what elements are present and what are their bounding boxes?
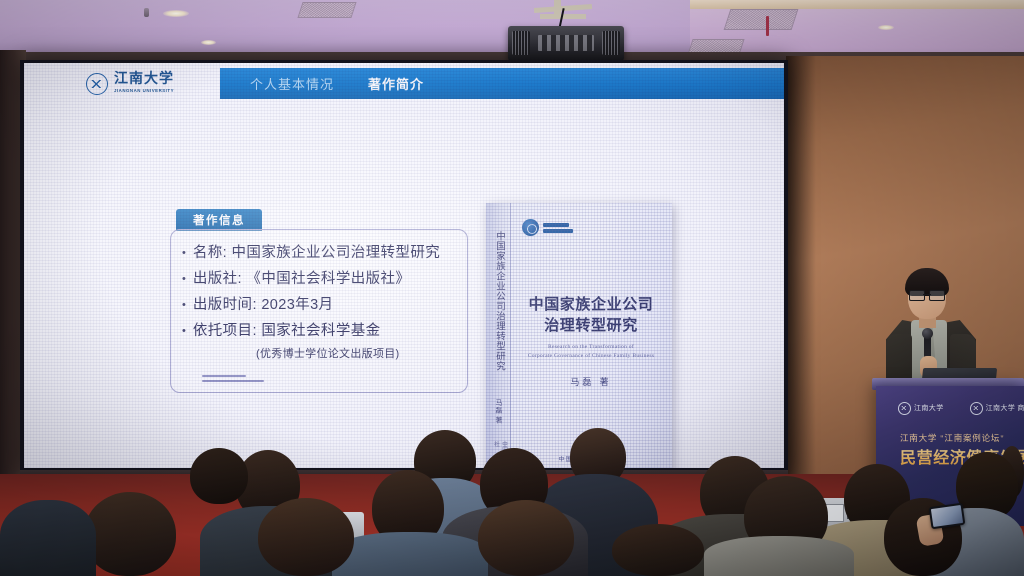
card-decoration-lines [202,375,264,385]
series-emblem-icon [522,219,539,236]
book-name-value: 名称: 中国家族企业公司治理转型研究 [193,245,440,262]
podium-logo-left-label: 江南大学 [914,403,944,413]
audience-phone-recording [929,503,966,530]
book-subtitle: Research on the Transformation of Corpor… [514,343,668,361]
info-card-bullet-list: • 名称: 中国家族企业公司治理转型研究 • 出版社: 《中国社会科学出版社》 … [182,245,462,369]
book-spine: 中国家族企业公司治理转型研究 马磊 著 中国社会科学出版社 [486,203,511,468]
list-item: • 出版社: 《中国社会科学出版社》 [182,271,462,288]
glasses-icon [909,290,945,299]
audience-shoulders [332,532,488,576]
ceiling-cove-light [690,0,1024,9]
series-badge-text [543,223,573,233]
publish-date-value: 出版时间: 2023年3月 [193,297,334,314]
podium-logo-right-label: 江南大学 商学院 [986,403,1024,413]
bullet-icon: • [182,323,186,340]
podium-logo-business-school: 江南大学 商学院 [970,402,1024,415]
microphone-head-icon [922,328,933,339]
info-card-tab: 著作信息 [176,209,262,231]
book-title-line2: 治理转型研究 [510,316,672,337]
university-name-en: JIANGNAN UNIVERSITY [114,89,174,93]
ceiling-downlight [163,10,189,17]
publisher-value: 出版社: 《中国社会科学出版社》 [193,271,410,288]
jiangnan-university-emblem-icon [970,402,983,415]
audience-head [84,492,176,576]
book-subtitle-line1: Research on the Transformation of [514,343,668,352]
audience-head [478,500,574,576]
info-card-tab-label: 著作信息 [193,212,245,228]
book-spine-title: 中国家族企业公司治理转型研究 [492,231,505,371]
list-item: • 出版时间: 2023年3月 [182,297,462,314]
jiangnan-university-emblem-icon [86,73,108,95]
tab-personal-info[interactable]: 个人基本情况 [250,74,334,93]
slide-nav-bar: 个人基本情况 著作简介 [220,68,784,99]
bullet-icon: • [182,297,186,314]
bullet-icon: • [182,245,186,262]
podium-logo-university: 江南大学 [898,402,944,415]
tab-book-introduction[interactable]: 著作简介 [368,74,424,93]
audience-head [190,448,248,504]
list-item: • 名称: 中国家族企业公司治理转型研究 [182,245,462,262]
funding-project-subnote: (优秀博士学位论文出版项目) [256,345,462,361]
university-logo-text: 江南大学 JIANGNAN UNIVERSITY [114,73,174,93]
bullet-icon: • [182,271,186,288]
slide-content: 江南大学 JIANGNAN UNIVERSITY 个人基本情况 著作简介 著作信… [24,63,784,468]
audience-head [612,524,704,576]
right-wall-shadow [786,56,816,476]
podium-logo-row: 江南大学 江南大学 商学院 [898,398,1024,418]
book-author: 马磊 著 [510,375,672,388]
slide-header: 江南大学 JIANGNAN UNIVERSITY 个人基本情况 著作简介 [24,68,784,99]
ceiling-downlight [878,25,894,30]
ceiling-sprinkler-pipe [766,16,769,36]
university-logo: 江南大学 JIANGNAN UNIVERSITY [86,68,218,99]
book-title: 中国家族企业公司 治理转型研究 [510,295,672,337]
presentation-screen: 江南大学 JIANGNAN UNIVERSITY 个人基本情况 著作简介 著作信… [24,63,784,468]
book-subtitle-line2: Corporate Governance of Chinese Family B… [514,352,668,361]
list-item: • 依托项目: 国家社会科学基金 [182,323,462,340]
book-spine-author: 马磊 著 [493,399,503,424]
book-title-line1: 中国家族企业公司 [510,295,672,316]
audience-head [258,498,354,576]
ceiling-sprinkler [144,8,149,17]
book-cover-image: 中国家族企业公司治理转型研究 马磊 著 中国社会科学出版社 中国家族企业公司 治… [486,203,672,468]
jiangnan-university-emblem-icon [898,402,911,415]
ceiling-downlight [201,40,216,45]
audience-shoulders [704,536,854,576]
ceiling-air-vent [297,2,356,18]
audience-shoulders [0,500,96,576]
book-series-badge [522,219,573,236]
podium-headline-small: 江南大学 "江南案例论坛" [900,432,1004,444]
presentation-photo: 江南大学 JIANGNAN UNIVERSITY 个人基本情况 著作简介 著作信… [0,0,1024,576]
ceiling-projector [508,26,624,61]
ceiling-air-vent [724,9,799,30]
funding-project-value: 依托项目: 国家社会科学基金 [193,323,381,340]
university-name-cn: 江南大学 [114,73,174,87]
